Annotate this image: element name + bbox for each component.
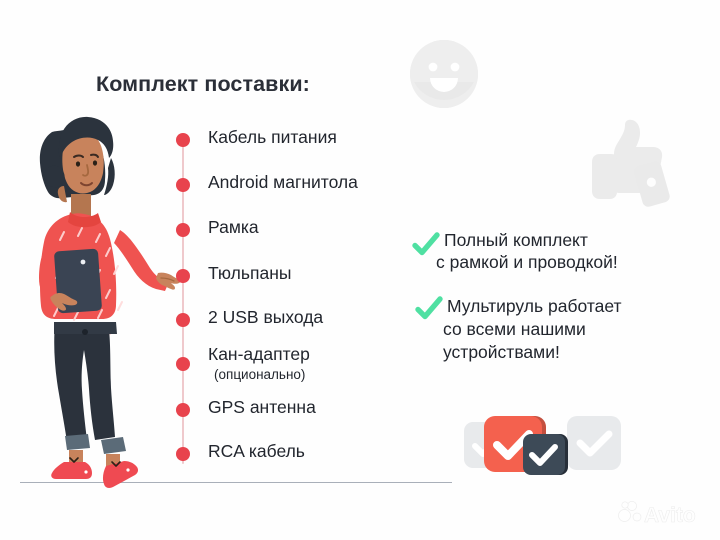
checkbox-card-slate xyxy=(523,434,568,475)
feature-line: устройствами! xyxy=(443,342,560,364)
bullet-dot-icon xyxy=(176,133,190,147)
list-item-label: Android магнитола xyxy=(208,173,358,193)
smiley-face-icon xyxy=(408,38,480,110)
feature-line: Полный комплект xyxy=(444,230,588,252)
bullet-dot-icon xyxy=(176,447,190,461)
list-item-label: 2 USB выхода xyxy=(208,308,323,328)
bullet-dot-icon xyxy=(176,403,190,417)
list-item-label: Рамка xyxy=(208,218,259,238)
list-item-label: Кабель питания xyxy=(208,128,337,148)
avito-watermark-label: Avito xyxy=(644,504,696,527)
bullet-dot-icon xyxy=(176,223,190,237)
list-item-label: Тюльпаны xyxy=(208,264,291,284)
list-item-label: RCA кабель xyxy=(208,442,305,462)
green-check-icon xyxy=(415,296,443,322)
bullet-dot-icon xyxy=(176,269,190,283)
page-title: Комплект поставки: xyxy=(96,72,310,97)
bullet-dot-icon xyxy=(176,313,190,327)
bullet-dot-icon xyxy=(176,178,190,192)
promo-image-root: Комплект поставки: Кабель питания Androi… xyxy=(0,0,720,540)
checkbox-card-gray-right xyxy=(567,416,621,470)
list-item-label: GPS антенна xyxy=(208,398,316,418)
feature-line: Мультируль работает xyxy=(447,296,622,318)
thumbs-up-icon xyxy=(580,118,676,208)
feature-line: со всеми нашими xyxy=(443,319,586,341)
bullet-dot-icon xyxy=(176,357,190,371)
woman-pointing-illustration xyxy=(8,110,188,495)
feature-line: с рамкой и проводкой! xyxy=(436,252,618,274)
list-item-label: Кан-адаптер xyxy=(208,345,310,365)
list-item-note: (опционально) xyxy=(214,367,305,382)
checkbox-cards-decoration xyxy=(462,410,622,486)
avito-watermark: Avito xyxy=(617,499,709,527)
